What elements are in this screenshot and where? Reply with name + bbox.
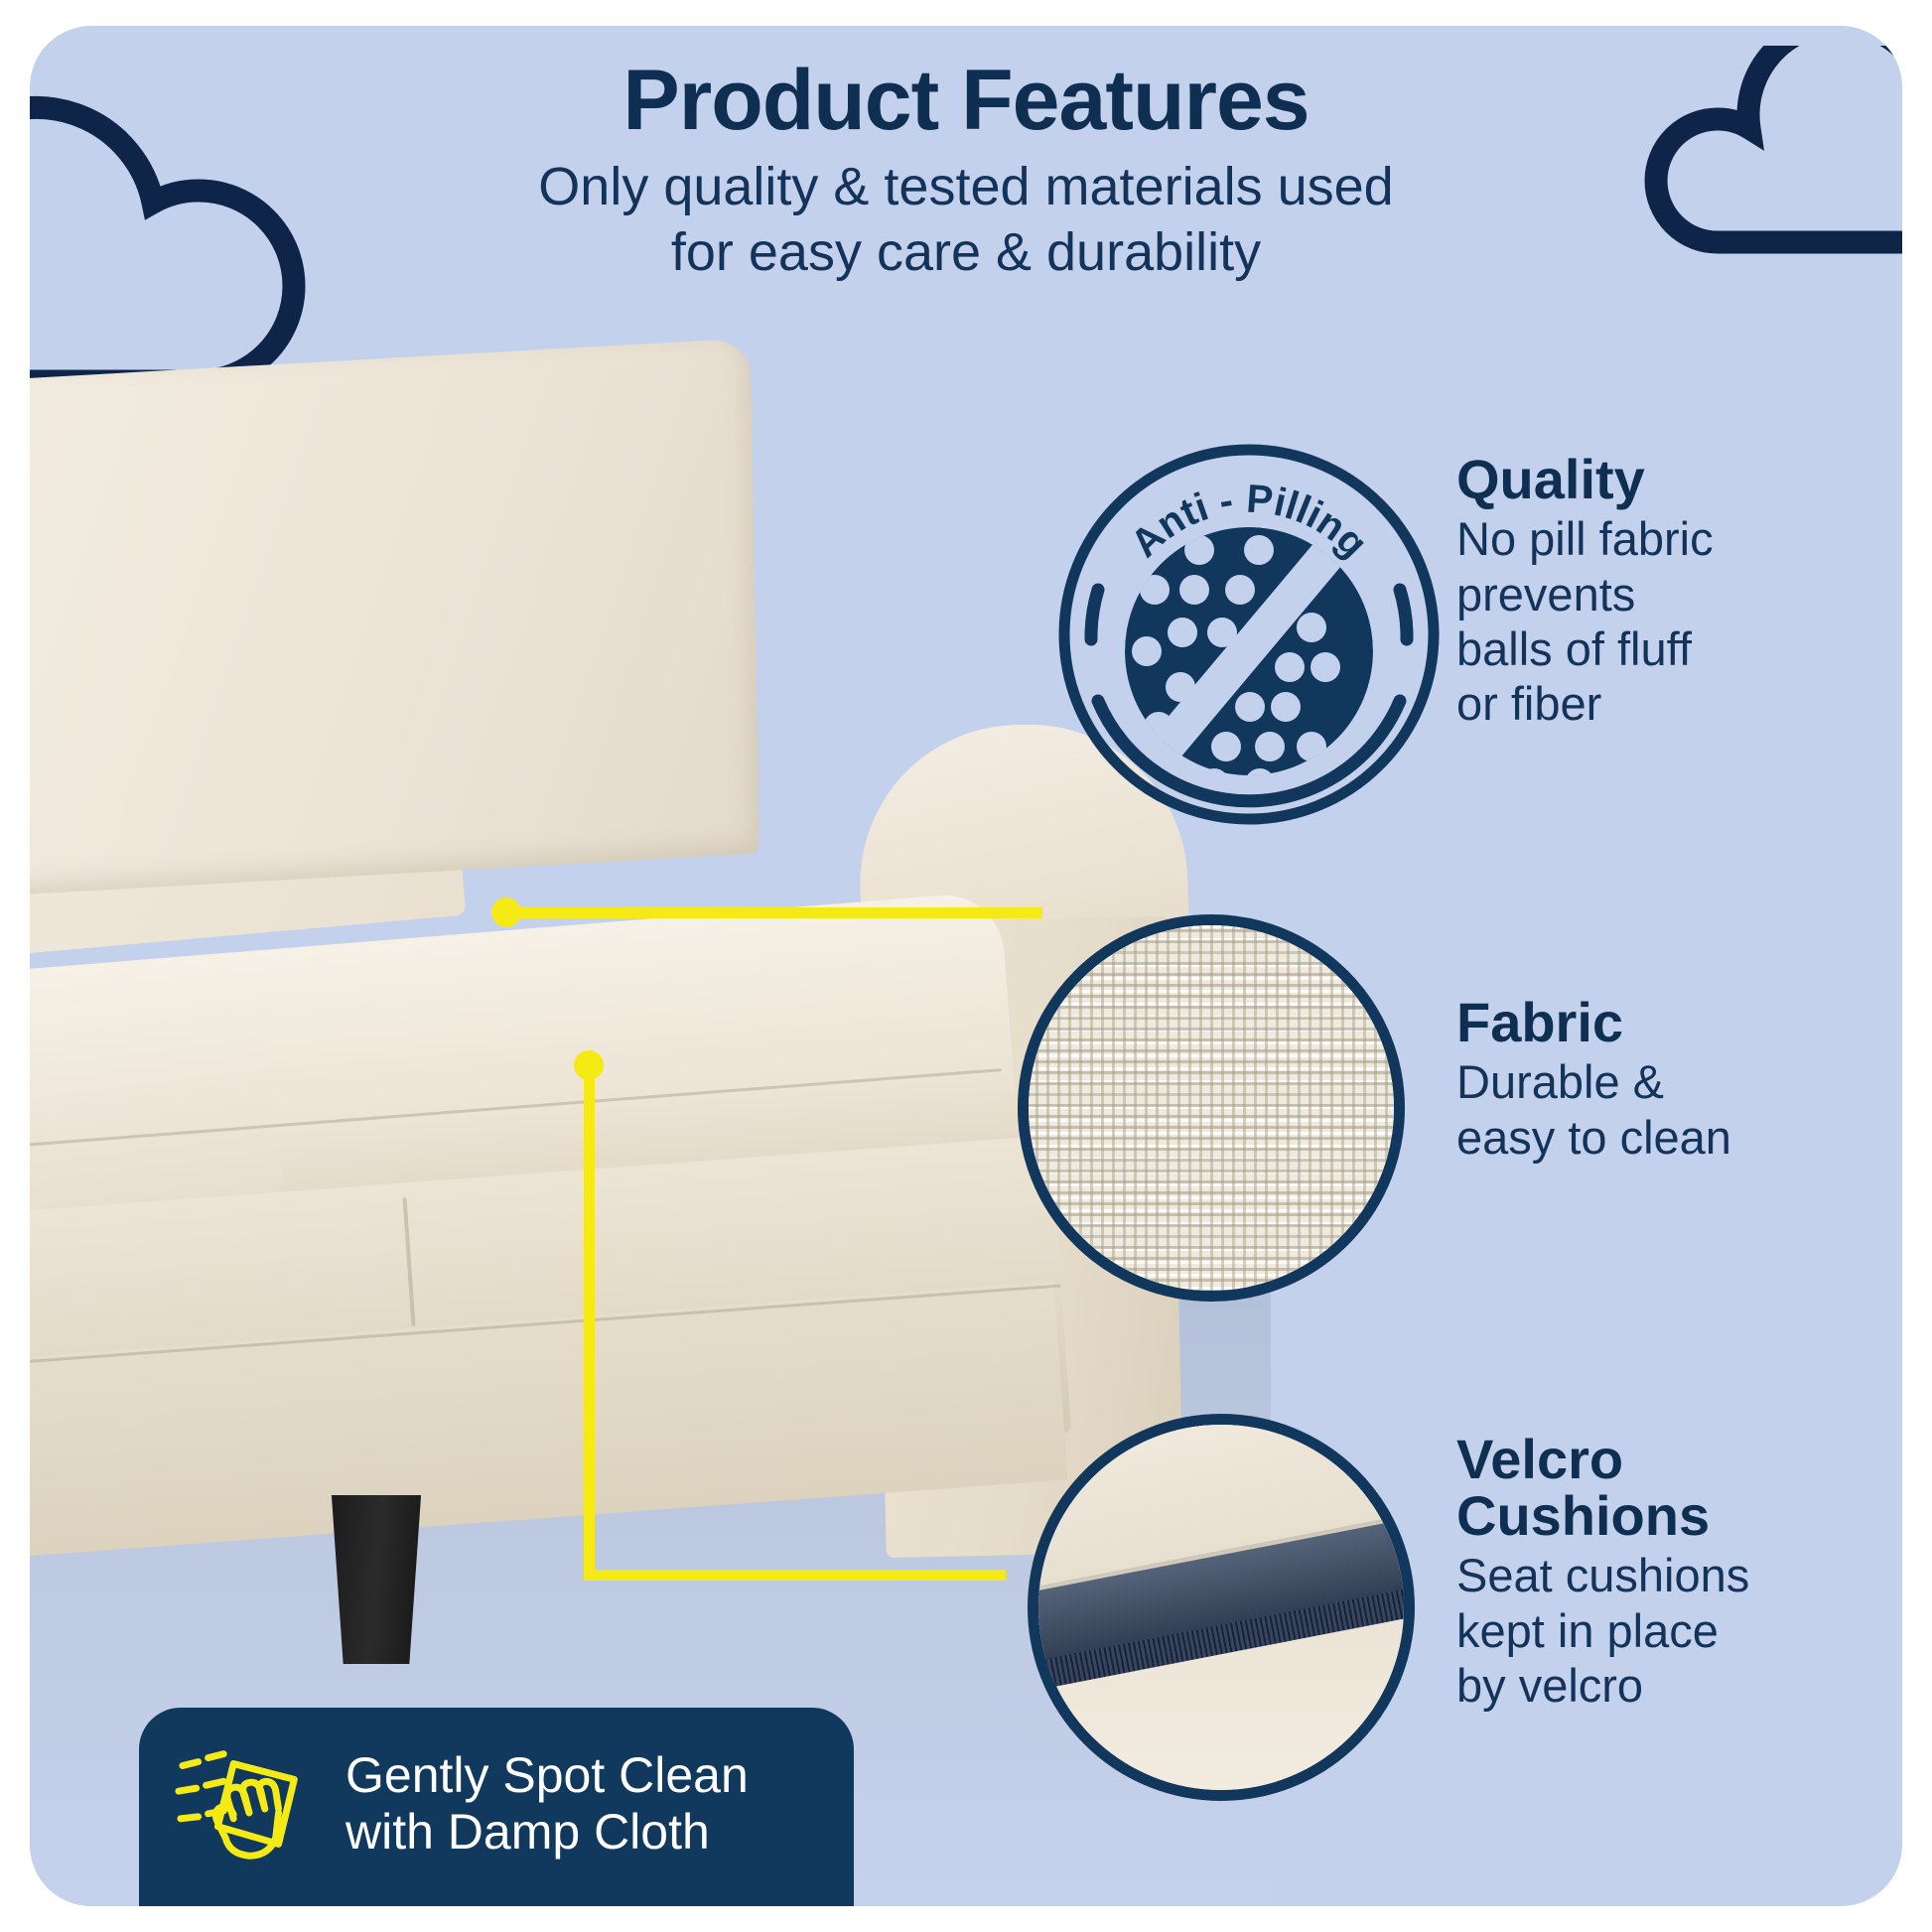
subtitle-line-1: Only quality & tested materials used — [538, 157, 1393, 216]
hand-wiping-cloth-icon — [173, 1728, 320, 1880]
feature-fabric-line-1: Durable & — [1456, 1055, 1664, 1108]
leader-line-velcro-horizontal — [584, 1570, 1006, 1581]
subtitle-line-2: for easy care & durability — [671, 222, 1261, 282]
feature-fabric-body: Durable & easy to clean — [1456, 1054, 1883, 1165]
header: Product Features Only quality & tested m… — [30, 58, 1902, 285]
infographic-canvas: Product Features Only quality & tested m… — [0, 0, 1932, 1932]
care-instruction-badge: Gently Spot Clean with Damp Cloth — [139, 1708, 854, 1906]
feature-velcro-body: Seat cushions kept in place by velcro — [1456, 1548, 1883, 1713]
feature-fabric: Fabric Durable & easy to clean — [1456, 994, 1883, 1165]
page-title: Product Features — [30, 58, 1902, 145]
feature-quality: Quality No pill fabric prevents balls of… — [1456, 451, 1883, 732]
feature-quality-line-1: No pill fabric — [1456, 512, 1714, 565]
feature-quality-body: No pill fabric prevents balls of fluff o… — [1456, 511, 1883, 732]
page-subtitle: Only quality & tested materials used for… — [30, 155, 1902, 286]
feature-velcro-line-1: Seat cushions — [1456, 1549, 1749, 1601]
feature-velcro-line-2: kept in place — [1456, 1604, 1719, 1657]
feature-fabric-line-2: easy to clean — [1456, 1111, 1731, 1164]
feature-velcro-title-line-2: Cushions — [1456, 1484, 1710, 1547]
fabric-closeup-circle — [1018, 914, 1405, 1302]
feature-velcro-title-line-1: Velcro — [1456, 1428, 1623, 1490]
feature-fabric-title: Fabric — [1456, 994, 1883, 1050]
leader-line-velcro-vertical — [584, 1064, 595, 1581]
feature-quality-line-3: balls of fluff — [1456, 622, 1692, 675]
sofa-leg — [328, 1495, 425, 1664]
feature-quality-line-2: prevents — [1456, 568, 1635, 621]
feature-quality-line-4: or fiber — [1456, 677, 1601, 730]
fabric-weave-texture — [1029, 925, 1394, 1291]
feature-velcro-line-3: by velcro — [1456, 1659, 1643, 1712]
care-line-1: Gently Spot Clean — [345, 1747, 749, 1803]
feature-quality-title: Quality — [1456, 451, 1883, 507]
anti-pilling-seal-icon: Anti - Pilling — [1055, 441, 1443, 828]
sofa-back-cushion — [30, 338, 759, 897]
feature-velcro-title: Velcro Cushions — [1456, 1431, 1883, 1544]
feature-velcro: Velcro Cushions Seat cushions kept in pl… — [1456, 1431, 1883, 1714]
leader-line-fabric — [506, 907, 1042, 918]
care-instruction-text: Gently Spot Clean with Damp Cloth — [345, 1747, 749, 1861]
feature-panel: Product Features Only quality & tested m… — [30, 26, 1902, 1906]
velcro-closeup-circle — [1028, 1414, 1415, 1801]
care-line-2: with Damp Cloth — [345, 1804, 710, 1860]
